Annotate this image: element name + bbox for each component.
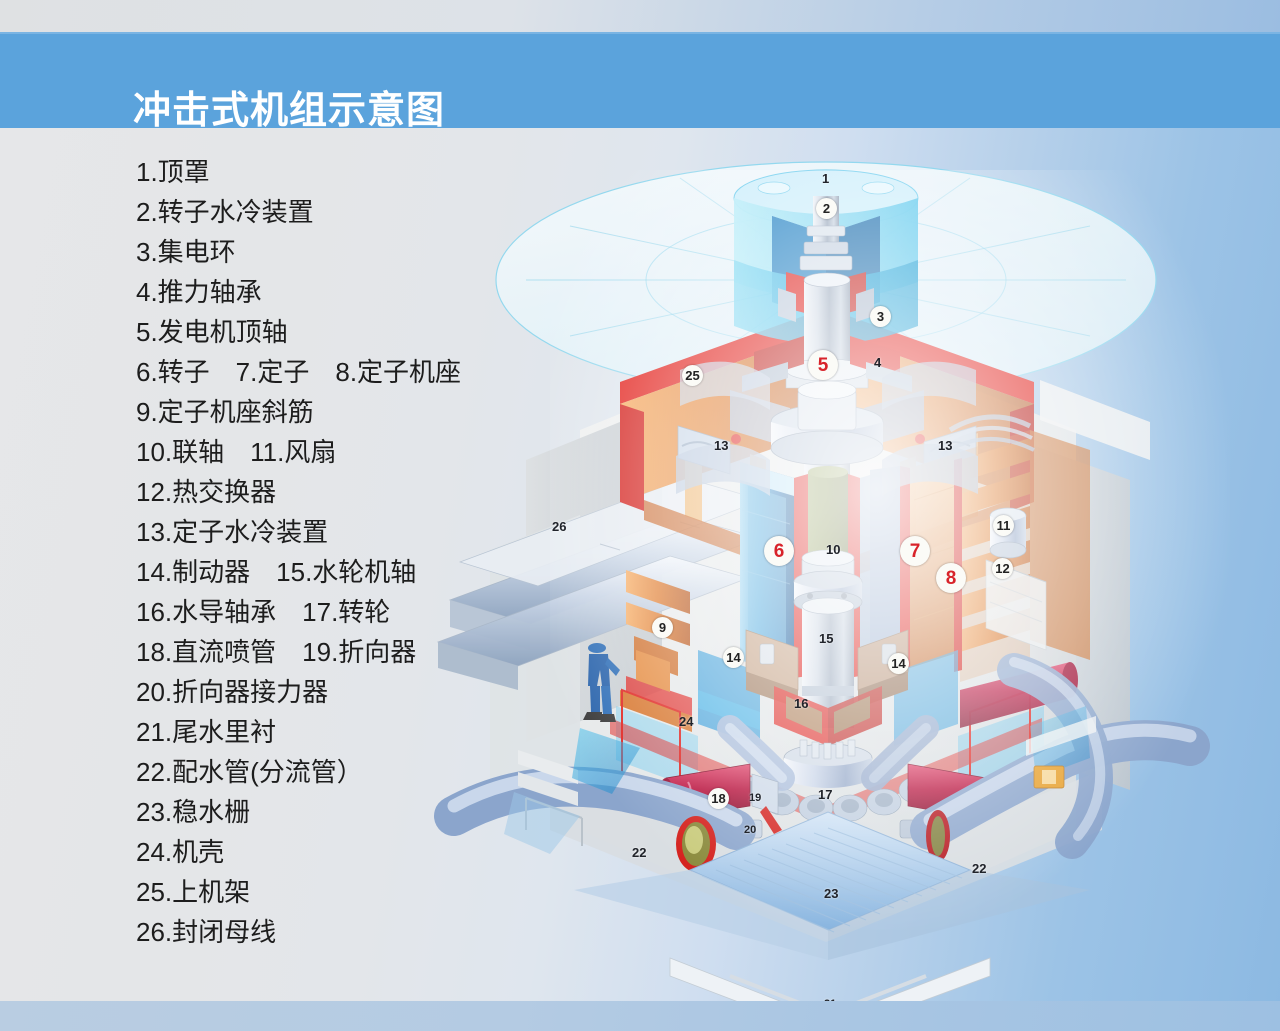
list-item: 10.联轴 11.风扇 [136, 432, 556, 472]
list-item: 9.定子机座斜筋 [136, 392, 556, 432]
list-item: 23.稳水栅 [136, 792, 556, 832]
list-item: 18.直流喷管 19.折向器 [136, 632, 556, 672]
callout-7: 7 [900, 536, 930, 566]
title-banner: 冲击式机组示意图 [0, 32, 1280, 128]
list-item: 13.定子水冷装置 [136, 512, 556, 552]
callout-20: 20 [744, 825, 756, 836]
list-item: 14.制动器 15.水轮机轴 [136, 552, 556, 592]
callout-2: 2 [816, 198, 837, 219]
callout-12: 12 [992, 558, 1013, 579]
top-strip [0, 0, 1280, 32]
cutaway-drawing [430, 130, 1280, 1030]
callout-13-left: 13 [714, 439, 728, 452]
page-title: 冲击式机组示意图 [133, 92, 445, 130]
slide-root: 冲击式机组示意图 [0, 0, 1280, 1031]
callout-11: 11 [993, 515, 1014, 536]
callout-24: 24 [679, 715, 693, 728]
callout-8: 8 [936, 563, 966, 593]
callout-5: 5 [808, 350, 838, 380]
callout-10: 10 [826, 543, 840, 556]
list-item: 20.折向器接力器 [136, 672, 556, 712]
list-item: 3.集电环 [136, 232, 556, 272]
callout-18: 18 [708, 788, 729, 809]
callout-23: 23 [824, 887, 838, 900]
callout-3: 3 [870, 306, 891, 327]
banner-highlight [0, 32, 1280, 34]
list-item: 1.顶罩 [136, 152, 556, 192]
callout-22-right: 22 [972, 862, 986, 875]
list-item: 25.上机架 [136, 872, 556, 912]
callout-14-right: 14 [888, 653, 909, 674]
list-item: 12.热交换器 [136, 472, 556, 512]
callout-25: 25 [682, 365, 703, 386]
turbine-generator-illustration: 1 2 3 4 5 25 6 7 8 9 10 11 12 13 13 14 1… [430, 130, 1280, 1030]
callout-14-left: 14 [723, 647, 744, 668]
callout-17: 17 [818, 788, 832, 801]
callout-9: 9 [652, 617, 673, 638]
callout-6: 6 [764, 536, 794, 566]
list-item: 4.推力轴承 [136, 272, 556, 312]
list-item: 5.发电机顶轴 [136, 312, 556, 352]
list-item: 2.转子水冷装置 [136, 192, 556, 232]
list-item: 24.机壳 [136, 832, 556, 872]
list-item: 6.转子 7.定子 8.定子机座 [136, 352, 556, 392]
callout-15: 15 [819, 632, 833, 645]
list-item: 22.配水管(分流管） [136, 752, 556, 792]
callout-1: 1 [822, 172, 829, 185]
list-item: 26.封闭母线 [136, 912, 556, 952]
callout-22-left: 22 [632, 846, 646, 859]
callout-19: 19 [749, 793, 761, 804]
legend-list: 1.顶罩 2.转子水冷装置 3.集电环 4.推力轴承 5.发电机顶轴 6.转子 … [136, 152, 556, 952]
callout-4: 4 [874, 356, 881, 369]
list-item: 21.尾水里衬 [136, 712, 556, 752]
list-item: 16.水导轴承 17.转轮 [136, 592, 556, 632]
callout-13-right: 13 [938, 439, 952, 452]
callout-16: 16 [794, 697, 808, 710]
bottom-strip [0, 1001, 1280, 1031]
